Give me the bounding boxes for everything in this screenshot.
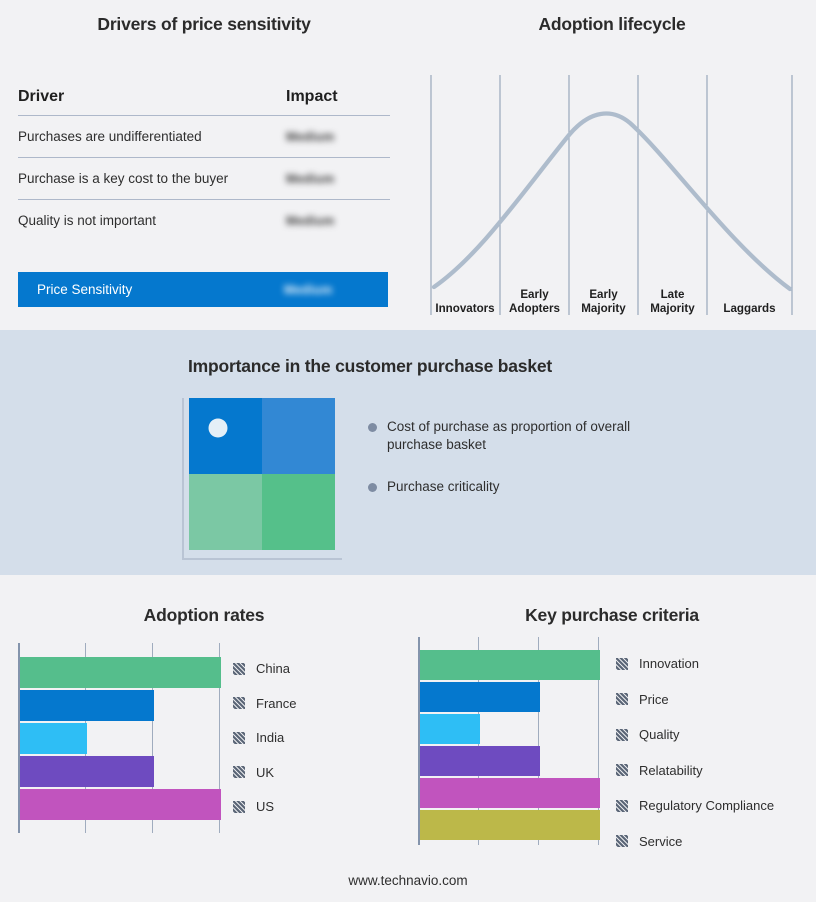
stage-label-late-majority: Late Majority (638, 288, 707, 315)
driver-name: Quality is not important (18, 213, 286, 228)
adoption-rates-legend: ChinaFranceIndiaUKUS (233, 661, 296, 834)
chart-bars (20, 643, 221, 833)
hatch-swatch-icon (616, 800, 628, 812)
key-purchase-criteria-legend: InnovationPriceQualityRelatabilityRegula… (616, 656, 774, 869)
adoption-rates-panel: Adoption rates ChinaFranceIndiaUKUS (0, 575, 408, 902)
hatch-swatch-icon (616, 835, 628, 847)
table-row: Quality is not important Medium (18, 200, 390, 241)
legend-label: Quality (639, 727, 679, 742)
infographic-page: Drivers of price sensitivity Driver Impa… (0, 0, 816, 902)
legend-label: Relatability (639, 763, 703, 778)
legend-item: Quality (616, 727, 774, 742)
quadrant-bottom-right (262, 474, 335, 550)
adoption-lifecycle-title: Adoption lifecycle (408, 14, 816, 35)
bar-france (20, 690, 154, 721)
impact-value-cell: Medium (286, 128, 390, 146)
bar-quality (420, 714, 480, 744)
legend-label: Regulatory Compliance (639, 798, 774, 813)
table-row: Purchase is a key cost to the buyer Medi… (18, 158, 390, 199)
legend-label: India (256, 730, 284, 745)
legend-label: Price (639, 692, 669, 707)
driver-name: Purchase is a key cost to the buyer (18, 171, 286, 186)
legend-label: Service (639, 834, 682, 849)
drivers-title: Drivers of price sensitivity (0, 14, 408, 35)
purchase-basket-matrix (182, 398, 342, 563)
price-sensitivity-label: Price Sensitivity (18, 282, 284, 297)
drivers-panel: Drivers of price sensitivity Driver Impa… (0, 0, 408, 330)
hatch-swatch-icon (616, 764, 628, 776)
quadrant-bottom-left (189, 474, 262, 550)
legend-item: France (233, 696, 296, 711)
matrix-y-axis (182, 398, 184, 560)
bar-uk (20, 756, 154, 787)
legend-item: UK (233, 765, 296, 780)
key-purchase-criteria-chart (418, 637, 600, 845)
stage-label-laggards: Laggards (707, 302, 792, 316)
legend-item: Innovation (616, 656, 774, 671)
key-purchase-criteria-title: Key purchase criteria (408, 605, 816, 626)
legend-item: Service (616, 834, 774, 849)
legend-label: Innovation (639, 656, 699, 671)
stage-label-early-adopters: Early Adopters (500, 288, 569, 315)
bar-price (420, 682, 540, 712)
footer-url: www.technavio.com (0, 873, 816, 888)
importance-panel: Importance in the customer purchase bask… (0, 330, 816, 575)
hatch-swatch-icon (233, 766, 245, 778)
hatch-swatch-icon (616, 693, 628, 705)
column-header-impact: Impact (286, 88, 390, 106)
hatch-swatch-icon (233, 663, 245, 675)
matrix-quadrants (189, 398, 335, 550)
stage-label-early-majority: Early Majority (569, 288, 638, 315)
legend-label: France (256, 696, 296, 711)
chart-bars (420, 637, 600, 845)
quadrant-top-right (262, 398, 335, 474)
legend-label: Purchase criticality (387, 478, 500, 496)
legend-item: China (233, 661, 296, 676)
adoption-stage-labels: Innovators Early Adopters Early Majority… (430, 277, 794, 317)
impact-value-redacted: Medium (286, 172, 334, 186)
bar-relatability (420, 746, 540, 776)
hatch-swatch-icon (616, 729, 628, 741)
legend-item: Cost of purchase as proportion of overal… (368, 418, 698, 454)
price-sensitivity-impact-cell: Medium (284, 281, 388, 299)
drivers-table-header: Driver Impact (18, 88, 390, 115)
bar-china (20, 657, 221, 688)
legend-item: Regulatory Compliance (616, 798, 774, 813)
bar-india (20, 723, 87, 754)
legend-item: India (233, 730, 296, 745)
legend-item: Relatability (616, 763, 774, 778)
key-purchase-criteria-panel: Key purchase criteria InnovationPriceQua… (408, 575, 816, 902)
impact-value-redacted: Medium (286, 130, 334, 144)
bar-service (420, 810, 600, 840)
bar-us (20, 789, 221, 820)
drivers-table: Driver Impact Purchases are undifferenti… (18, 88, 390, 241)
bar-innovation (420, 650, 600, 680)
adoption-rates-chart (18, 643, 221, 833)
importance-legend: Cost of purchase as proportion of overal… (368, 418, 698, 520)
stage-label-innovators: Innovators (430, 302, 500, 316)
legend-label: China (256, 661, 290, 676)
quadrant-top-left (189, 398, 262, 474)
hatch-swatch-icon (233, 801, 245, 813)
hatch-swatch-icon (233, 697, 245, 709)
adoption-lifecycle-panel: Adoption lifecycle Innovators Early Adop… (408, 0, 816, 330)
impact-value-redacted: Medium (284, 283, 332, 297)
adoption-bell-curve (434, 114, 790, 289)
bar-regulatory-compliance (420, 778, 600, 808)
bullet-icon (368, 483, 377, 492)
hatch-swatch-icon (616, 658, 628, 670)
impact-value-cell: Medium (286, 170, 390, 188)
legend-item: US (233, 799, 296, 814)
legend-item: Purchase criticality (368, 478, 698, 496)
importance-title: Importance in the customer purchase bask… (0, 356, 740, 377)
impact-value-redacted: Medium (286, 214, 334, 228)
position-marker-dot (209, 418, 228, 437)
legend-label: Cost of purchase as proportion of overal… (387, 418, 645, 454)
hatch-swatch-icon (233, 732, 245, 744)
legend-label: UK (256, 765, 274, 780)
price-sensitivity-summary-row: Price Sensitivity Medium (18, 272, 388, 307)
impact-value-cell: Medium (286, 212, 390, 230)
driver-name: Purchases are undifferentiated (18, 129, 286, 144)
table-row: Purchases are undifferentiated Medium (18, 116, 390, 157)
adoption-rates-title: Adoption rates (0, 605, 408, 626)
bullet-icon (368, 423, 377, 432)
legend-item: Price (616, 692, 774, 707)
matrix-x-axis (182, 558, 342, 560)
legend-label: US (256, 799, 274, 814)
column-header-driver: Driver (18, 88, 286, 106)
